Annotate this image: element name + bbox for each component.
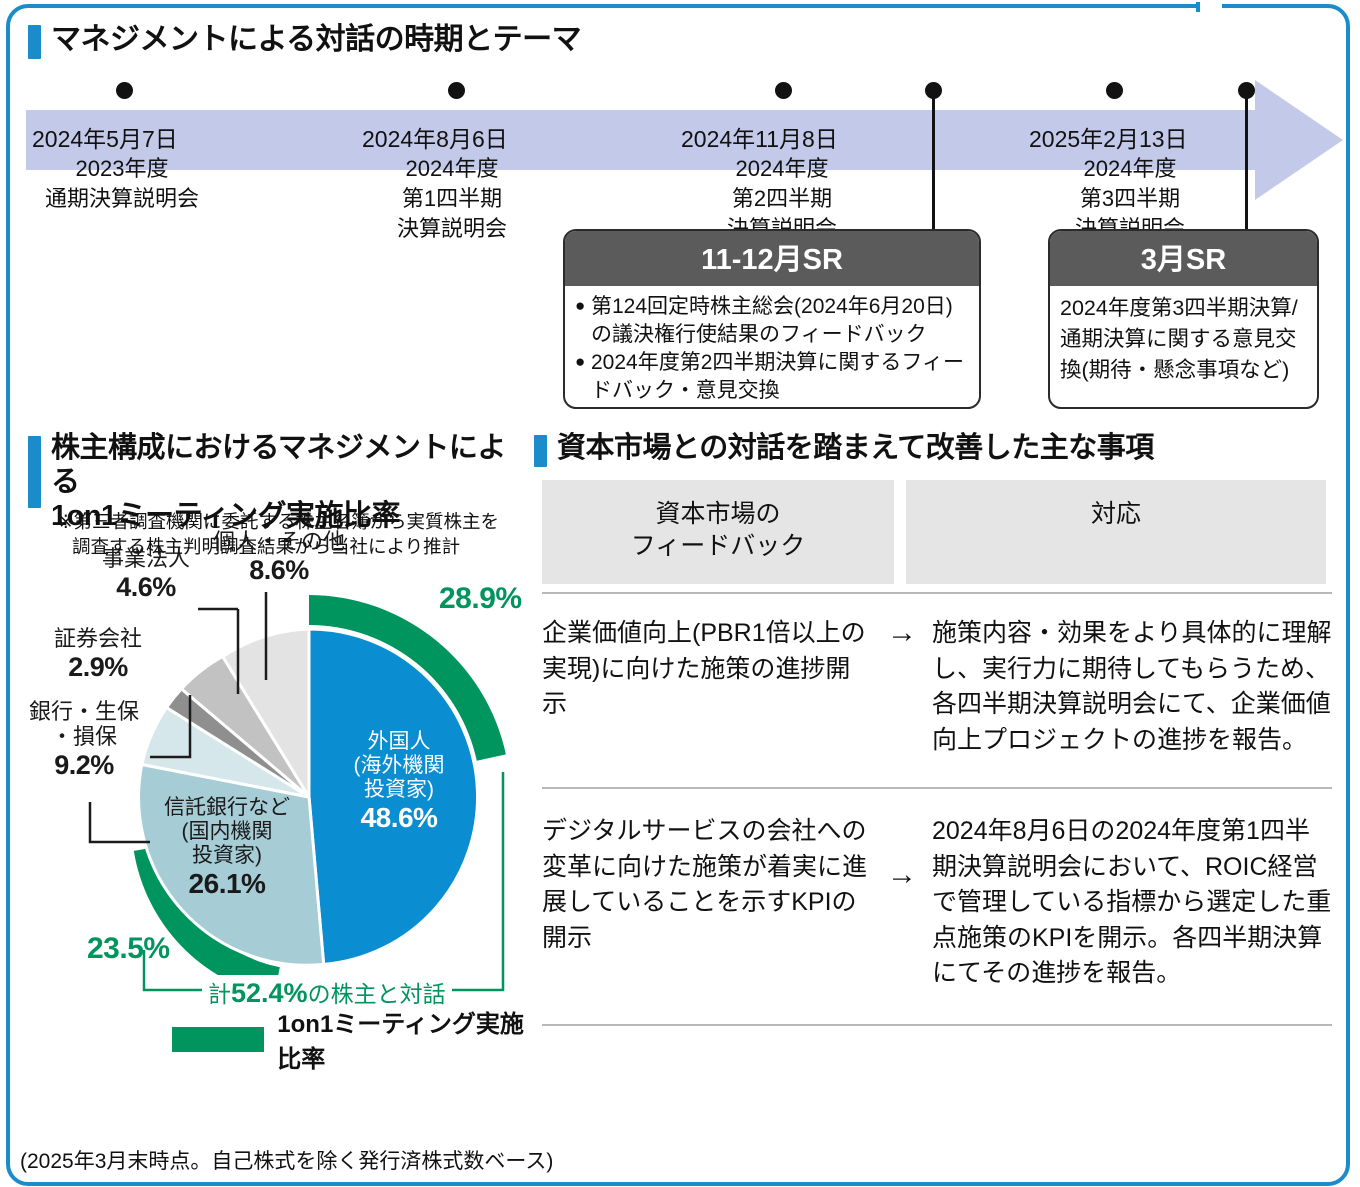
timeline-event-date: 2025年2月13日 [1029,120,1188,154]
table-divider [542,592,1332,594]
sr-bullet-text: 第124回定時株主総会(2024年6月20日)の議決権行使結果のフィードバック [591,293,969,349]
pie-heading-line1: 株主構成におけるマネジメントによる [51,432,528,500]
pie-inner-trust-line2: (国内機関 [142,820,312,844]
pie-inner-trust-line3: 投資家) [142,844,312,868]
timeline-event-sub: 2023年度 通期決算説明会 [24,154,220,214]
pie-label-securities: 証券会社 2.9% [38,627,158,682]
timeline-event-date: 2024年8月6日 [362,120,508,154]
table-divider [542,1024,1332,1026]
timeline-marker-dot [116,82,133,99]
pie-section: 株主構成におけるマネジメントによる 1on1ミーティング実施比率 ※第三者調査機… [24,432,529,1172]
sr-connector-dot [925,82,942,99]
table-cell-response: 2024年8月6日の2024年度第1四半期決算説明会において、ROIC経営で管理… [932,810,1332,992]
table-header-response: 対応 [906,480,1326,584]
table-heading: 資本市場との対話を踏まえて改善した主な事項 [534,432,1154,467]
pie-inner-foreign-line3: 投資家) [324,778,474,802]
sr-card-body: ● 第124回定時株主総会(2024年6月20日)の議決権行使結果のフィードバッ… [565,286,979,409]
bullet-icon: ● [575,349,590,375]
sr-card-title: 3月SR [1050,231,1317,286]
table-row: デジタルサービスの会社への変革に向けた施策が着実に進展していることを示すKPIの… [542,810,1332,992]
timeline-event-sub-line: 第3四半期 [1032,184,1228,214]
timeline-event-sub-line: 第2四半期 [684,184,880,214]
pie-inner-trust-line1: 信託銀行など [142,796,312,820]
table-header-row: 資本市場の フィードバック 対応 [542,480,1332,584]
sr-connector-stem [1245,98,1248,236]
improvement-table-section: 資本市場との対話を踏まえて改善した主な事項 資本市場の フィードバック 対応 企… [534,432,1334,1072]
pie-label-bank-insurance: 銀行・生保 ・損保 9.2% [24,700,144,780]
sr-card-title: 11-12月SR [565,231,979,286]
bullet-icon: ● [575,293,590,319]
pie-legend: 1on1ミーティング実施比率 [172,1004,529,1074]
table-cell-feedback: デジタルサービスの会社への変革に向けた施策が着実に進展していることを示すKPIの… [542,810,872,956]
timeline-event-sub-line: 2023年度 [24,154,220,184]
arrow-right-icon: → [872,612,932,650]
heading-accent-bar [28,436,41,508]
timeline-section: マネジメントによる対話の時期とテーマ 2024年5月7日 2023年度 通期決算… [24,14,1324,414]
timeline-event-sub-line: 2024年度 [684,154,880,184]
table-header-feedback-line1: 資本市場の [542,498,894,530]
table-row: 企業価値向上(PBR1倍以上の実現)に向けた施策の進捗開示 → 施策内容・効果を… [542,612,1332,758]
pie-label-individual-other-name: 個人・その他 [213,529,345,554]
pie-label-corporations-name: 事業法人 [102,546,190,571]
pie-inner-foreign-line2: (海外機関 [324,754,474,778]
timeline-marker-dot [775,82,792,99]
pie-chart: 事業法人 4.6% 個人・その他 8.6% 証券会社 2.9% 銀行・生保 ・損… [24,552,529,1022]
page-border-tick [1196,2,1200,12]
pie-label-bank-insurance-line1: 銀行・生保 [29,699,139,724]
arrow-right-icon: → [872,810,932,892]
timeline-event-sub: 2024年度 第1四半期 決算説明会 [354,154,550,244]
timeline-event-date: 2024年5月7日 [32,120,178,154]
timeline-event-sub-line: 2024年度 [1032,154,1228,184]
table-cell-feedback: 企業価値向上(PBR1倍以上の実現)に向けた施策の進捗開示 [542,612,872,723]
table-header-feedback-line2: フィードバック [542,530,894,562]
sr-bullet-item: ● 第124回定時株主総会(2024年6月20日)の議決権行使結果のフィードバッ… [575,293,969,349]
pie-label-securities-name: 証券会社 [54,626,142,651]
pie-label-securities-value: 2.9% [38,652,158,683]
table-header-response-line1: 対応 [906,498,1326,530]
pie-inner-label-trust-bank: 信託銀行など (国内機関 投資家) 26.1% [142,796,312,900]
timeline-heading: マネジメントによる対話の時期とテーマ [28,22,581,59]
pie-label-individual-other-value: 8.6% [199,555,359,586]
pie-inner-foreign-line1: 外国人 [324,730,474,754]
sr-connector-dot [1238,82,1255,99]
pie-inner-foreign-value: 48.6% [324,802,474,834]
sr-card-11-12: 11-12月SR ● 第124回定時株主総会(2024年6月20日)の議決権行使… [563,229,981,409]
sr-bullet-text: 2024年度第2四半期決算に関するフィードバック・意見交換 [591,349,969,405]
overlay-value-foreign: 28.9% [439,582,522,616]
table-divider [542,787,1332,789]
timeline-event-sub-line: 第1四半期 [354,184,550,214]
timeline-event-sub-line: 決算説明会 [354,214,550,244]
legend-swatch-1on1 [172,1027,264,1052]
pie-label-bank-insurance-line2: ・損保 [51,724,117,749]
pie-label-corporations-value: 4.6% [86,572,206,603]
sr-bullet-item: ● 2024年度第2四半期決算に関するフィードバック・意見交換 [575,349,969,405]
timeline-marker-dot [1106,82,1123,99]
timeline-heading-text: マネジメントによる対話の時期とテーマ [51,22,581,57]
pie-inner-label-foreign: 外国人 (海外機関 投資家) 48.6% [324,730,474,834]
sr-card-body: 2024年度第3四半期決算/通期決算に関する意見交換(期待・懸念事項など) [1050,286,1317,396]
timeline-marker-dot [448,82,465,99]
pie-footnote: (2025年3月末時点。自己株式を除く発行済株式数ベース) [20,1145,553,1175]
table-header-feedback: 資本市場の フィードバック [542,480,894,584]
timeline-event-date: 2024年11月8日 [681,120,838,154]
sr-card-march: 3月SR 2024年度第3四半期決算/通期決算に関する意見交換(期待・懸念事項な… [1048,229,1319,409]
overlay-value-trust: 23.5% [87,932,170,966]
legend-label-1on1: 1on1ミーティング実施比率 [277,1004,529,1074]
pie-label-individual-other: 個人・その他 8.6% [199,530,359,585]
pie-label-bank-insurance-value: 9.2% [24,750,144,781]
heading-accent-bar [534,435,547,467]
table-heading-text: 資本市場との対話を踏まえて改善した主な事項 [557,432,1154,466]
heading-accent-bar [28,25,41,59]
timeline-event-sub-line: 通期決算説明会 [24,184,220,214]
timeline-event-sub-line: 2024年度 [354,154,550,184]
pie-inner-trust-value: 26.1% [142,868,312,900]
pie-label-corporations: 事業法人 4.6% [86,547,206,602]
sr-connector-stem [932,98,935,236]
table-cell-response: 施策内容・効果をより具体的に理解し、実行力に期待してもらうため、各四半期決算説明… [932,612,1332,758]
timeline-arrow-head [1255,80,1343,200]
